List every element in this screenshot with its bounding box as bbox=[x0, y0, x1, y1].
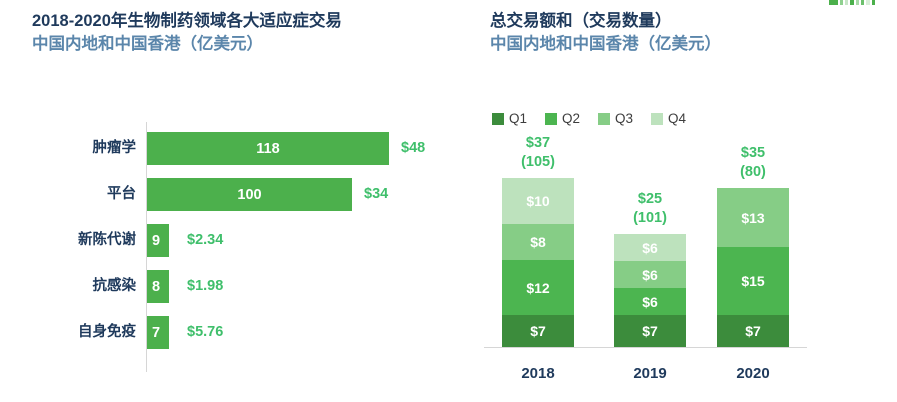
bar-value-label: 9 bbox=[152, 233, 160, 249]
bar-row: 肿瘤学118$48 bbox=[0, 132, 462, 165]
stack-total-label: $37(105) bbox=[483, 134, 593, 172]
bar-segment: 8 bbox=[147, 270, 169, 303]
bar-amount-label: $1.98 bbox=[187, 270, 223, 303]
bar-segment: 9 bbox=[147, 224, 169, 257]
left-title-block: 2018-2020年生物制药领域各大适应症交易 中国内地和中国香港（亿美元） bbox=[0, 10, 494, 56]
year-axis-label: 2019 bbox=[614, 365, 686, 382]
right-title-block: 总交易额和（交易数量） 中国内地和中国香港（亿美元） bbox=[462, 10, 897, 56]
stacked-bar-column: $7$6$6$6 bbox=[614, 234, 686, 347]
bar-row: 新陈代谢9$2.34 bbox=[0, 224, 462, 257]
stack-total-value: $35 bbox=[698, 144, 808, 163]
stack-segment-q1: $7 bbox=[502, 315, 574, 347]
stack-total-count: (101) bbox=[595, 209, 705, 228]
bar-value-label: 7 bbox=[152, 325, 160, 341]
left-chart-subtitle: 中国内地和中国香港（亿美元） bbox=[32, 32, 494, 56]
legend-item-q1[interactable]: Q1 bbox=[492, 111, 527, 126]
legend-label: Q2 bbox=[562, 111, 580, 126]
bar-segment: 7 bbox=[147, 316, 169, 349]
bar-amount-label: $48 bbox=[401, 132, 425, 165]
stacked-bar-column: $7$12$8$10 bbox=[502, 178, 574, 347]
stack-total-label: $35(80) bbox=[698, 144, 808, 182]
stack-segment-q2: $12 bbox=[502, 260, 574, 315]
stack-total-count: (80) bbox=[698, 163, 808, 182]
indications-bar-chart: 肿瘤学118$48平台100$34新陈代谢9$2.34抗感染8$1.98自身免疫… bbox=[0, 122, 462, 372]
legend-swatch-icon bbox=[545, 113, 557, 125]
bar-value-label: 8 bbox=[152, 279, 160, 295]
bar-row: 自身免疫7$5.76 bbox=[0, 316, 462, 349]
bar-row: 平台100$34 bbox=[0, 178, 462, 211]
right-chart-title: 总交易额和（交易数量） bbox=[490, 10, 897, 32]
stacked-bar-column: $7$15$13 bbox=[717, 188, 789, 347]
stack-segment-q3: $13 bbox=[717, 188, 789, 247]
bar-row: 抗感染8$1.98 bbox=[0, 270, 462, 303]
bar-segment: 100 bbox=[147, 178, 352, 211]
legend-item-q3[interactable]: Q3 bbox=[598, 111, 633, 126]
bar-amount-label: $34 bbox=[364, 178, 388, 211]
stack-segment-q3: $6 bbox=[614, 261, 686, 288]
bar-category-label: 平台 bbox=[0, 178, 136, 211]
left-chart-title: 2018-2020年生物制药领域各大适应症交易 bbox=[32, 10, 494, 32]
right-chart-subtitle: 中国内地和中国香港（亿美元） bbox=[490, 32, 897, 56]
bar-amount-label: $2.34 bbox=[187, 224, 223, 257]
chart-legend: Q1Q2Q3Q4 bbox=[492, 111, 686, 126]
stack-segment-q4: $10 bbox=[502, 178, 574, 224]
stack-segment-q2: $6 bbox=[614, 288, 686, 315]
stack-total-value: $37 bbox=[483, 134, 593, 153]
bar-value-label: 100 bbox=[237, 187, 261, 203]
bar-category-label: 新陈代谢 bbox=[0, 224, 136, 257]
year-axis-label: 2020 bbox=[717, 365, 789, 382]
stack-segment-q3: $8 bbox=[502, 224, 574, 260]
legend-swatch-icon bbox=[492, 113, 504, 125]
stack-segment-q4: $6 bbox=[614, 234, 686, 261]
stack-total-value: $25 bbox=[595, 190, 705, 209]
bar-category-label: 自身免疫 bbox=[0, 316, 136, 349]
bar-amount-label: $5.76 bbox=[187, 316, 223, 349]
legend-label: Q1 bbox=[509, 111, 527, 126]
stack-segment-q1: $7 bbox=[717, 315, 789, 347]
stack-total-count: (105) bbox=[483, 153, 593, 172]
bar-value-label: 118 bbox=[256, 141, 279, 157]
left-chart-panel: 2018-2020年生物制药领域各大适应症交易 中国内地和中国香港（亿美元） 肿… bbox=[0, 0, 462, 402]
stack-segment-q2: $15 bbox=[717, 247, 789, 315]
legend-item-q4[interactable]: Q4 bbox=[651, 111, 686, 126]
stack-segment-q1: $7 bbox=[614, 315, 686, 347]
legend-item-q2[interactable]: Q2 bbox=[545, 111, 580, 126]
legend-label: Q3 bbox=[615, 111, 633, 126]
bar-category-label: 肿瘤学 bbox=[0, 132, 136, 165]
legend-swatch-icon bbox=[598, 113, 610, 125]
bar-category-label: 抗感染 bbox=[0, 270, 136, 303]
bar-segment: 118 bbox=[147, 132, 389, 165]
stacked-plot-area: $7$12$8$10$37(105)2018$7$6$6$6$25(101)20… bbox=[462, 140, 897, 390]
legend-swatch-icon bbox=[651, 113, 663, 125]
baseline-axis bbox=[484, 347, 807, 348]
legend-label: Q4 bbox=[668, 111, 686, 126]
stack-total-label: $25(101) bbox=[595, 190, 705, 228]
total-deal-value-stacked-chart: Q1Q2Q3Q4 $7$12$8$10$37(105)2018$7$6$6$6$… bbox=[462, 100, 897, 402]
year-axis-label: 2018 bbox=[502, 365, 574, 382]
